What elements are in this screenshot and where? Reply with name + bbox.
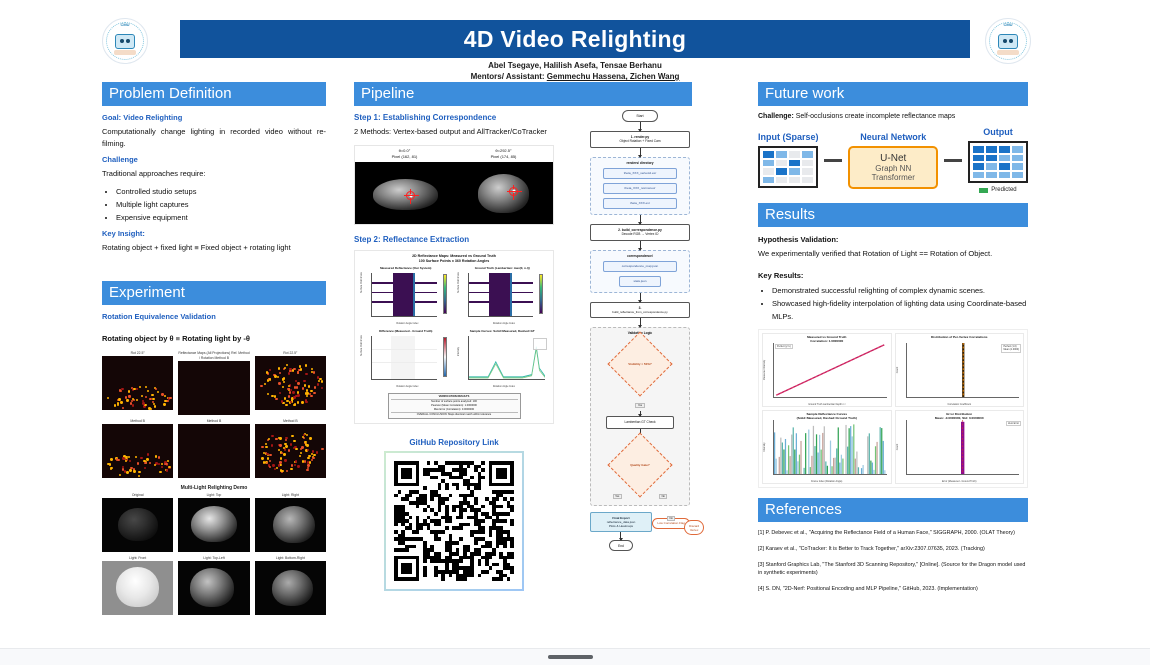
reflectance-thumbnail: [255, 356, 326, 410]
flow-file: theta_XXX_normal.exr: [603, 183, 677, 194]
render-frame-theta0: [355, 162, 454, 224]
corr-caption-left: θ=0.0° Pixel (162, 81): [355, 146, 454, 162]
plot-title-line2: 100 Surface Points x 360 Rotation Angles: [359, 259, 549, 264]
thumb-cell: Method B: [102, 419, 173, 478]
section-header-future-work: Future work: [758, 82, 1028, 106]
edge-label-no: No: [659, 494, 667, 499]
hypothesis-label: Hypothesis Validation:: [758, 234, 1028, 246]
list-item: Multiple light captures: [116, 198, 326, 211]
list-item: Controlled studio setups: [116, 185, 326, 198]
challenge-text: Traditional approaches require:: [102, 168, 326, 180]
author-names: Abel Tsegaye, Halilish Asefa, Tensae Ber…: [180, 60, 970, 71]
goal-label: Goal: Video Relighting: [102, 113, 326, 122]
thumb-cell: Method B: [178, 419, 249, 478]
identity-line-svg: [774, 343, 887, 397]
relight-demo-grid: Original Light: Top Light: Right Light: …: [102, 493, 326, 615]
reflectance-thumb-grid: Rot 22.5° Reflectance Maps (All Projecti…: [102, 351, 326, 478]
key-results-list: Demonstrated successful relighting of co…: [758, 284, 1028, 323]
robot-logo-icon: CMU: [989, 22, 1027, 60]
insight-label: Key Insight:: [102, 229, 326, 238]
flow-node-reflectance: 3. build_reflectance_from_correspondence…: [590, 302, 690, 319]
diagram-network: Neural Network U-Net Graph NN Transforme…: [848, 132, 938, 189]
reflectance-plot-panel: 2D Reflectance Maps: Measured vs Ground …: [354, 250, 554, 424]
demo-cell: Light: Bottom-Right: [255, 556, 326, 615]
thumb-cell: Rot 22.5°: [255, 351, 326, 415]
section-header-experiment: Experiment: [102, 281, 326, 305]
demo-cell: Light: Front: [102, 556, 173, 615]
step2-title: Step 2: Reflectance Extraction: [354, 235, 554, 244]
plot-measured-reflectance: Measured Reflectance (Our System) Rotati…: [359, 266, 453, 326]
correspondence-figure: θ=0.0° Pixel (162, 81) θ=292.5° Pixel (1…: [354, 145, 554, 225]
bars-svg: [774, 420, 887, 474]
legend-swatch-icon: [979, 188, 988, 193]
connector-dash: [824, 159, 842, 162]
thumb-cell: Rot 22.5°: [102, 351, 173, 415]
author-block: Abel Tsegaye, Halilish Asefa, Tensae Ber…: [180, 60, 970, 82]
flow-file: correspondence_map.json: [603, 261, 677, 272]
footer-scrollbar[interactable]: [548, 655, 593, 659]
challenge-bullet-list: Controlled studio setups Multiple light …: [102, 185, 326, 224]
future-challenge-text: Challenge: Self-occlusions create incomp…: [758, 113, 1028, 120]
list-item: Demonstrated successful relighting of co…: [772, 284, 1028, 297]
flow-node-render: 1. render.py Object Rotation + Fixed Cam: [590, 131, 690, 148]
pipeline-flowchart: Start 1. render.py Object Rotation + Fix…: [590, 110, 690, 551]
demo-thumbnail: [255, 498, 326, 552]
reflectance-thumbnail: [102, 424, 173, 478]
list-item: Showcased high-fidelity interpolation of…: [772, 297, 1028, 323]
reference-item: [4] S. DN, "2D-Nerf: Positional Encoding…: [758, 585, 1028, 593]
flow-decision-quality: Quality Gate?: [607, 432, 672, 497]
edge-label-no: No: [667, 516, 675, 521]
section-header-pipeline: Pipeline: [354, 82, 692, 106]
key-results-label: Key Results:: [758, 270, 1028, 282]
flow-start-node: Start: [622, 110, 658, 122]
plot-ground-truth: Ground Truth (Lambertian: max(0, n·l)) R…: [456, 266, 550, 326]
experiment-equation: Rotating object by θ ≡ Rotating light by…: [102, 333, 326, 345]
flow-file: stats.json: [619, 276, 661, 287]
column-left: Problem Definition Goal: Video Relightin…: [102, 82, 326, 615]
error-hist-svg: [907, 420, 1020, 474]
column-middle: Pipeline Step 1: Establishing Correspond…: [354, 82, 692, 591]
logo-left: CMU: [102, 18, 148, 64]
predicted-legend: Predicted: [968, 187, 1028, 193]
flow-decision-visibility: Visibility > 50%?: [607, 332, 672, 397]
reflectance-thumbnail: [178, 424, 249, 478]
thumb-cell: Method B: [255, 419, 326, 478]
reference-item: [2] Karaev et al., "CoTracker: It is Bet…: [758, 545, 1028, 553]
demo-cell: Light: Right: [255, 493, 326, 552]
insight-text: Rotating object + fixed light ≡ Fixed ob…: [102, 242, 326, 254]
diagram-input: Input (Sparse): [758, 132, 819, 188]
plot-error-distribution: Error DistributionMean: -0.0000000, Std:…: [895, 410, 1025, 484]
step1-text: 2 Methods: Vertex-based output and AllTr…: [354, 126, 554, 138]
flow-node-final-export: Final Export reflectance_data.json Plots…: [590, 512, 652, 533]
demo-title: Multi-Light Relighting Demo: [102, 485, 326, 491]
section-header-results: Results: [758, 203, 1028, 227]
flow-end-node: End: [609, 540, 633, 551]
step1-title: Step 1: Establishing Correspondence: [354, 113, 554, 122]
results-plot-panel: Measured vs Ground TruthCorrelation: 1.0…: [758, 329, 1028, 488]
list-item: Expensive equipment: [116, 211, 326, 224]
thumb-cell: Reflectance Maps (All Projections) Ref. …: [178, 351, 249, 415]
reference-item: [3] Stanford Graphics Lab, "The Stanford…: [758, 561, 1028, 577]
demo-cell: Light: Top: [178, 493, 249, 552]
neural-network-box: U-Net Graph NN Transformer: [848, 146, 938, 189]
page-title: 4D Video Relighting: [464, 26, 687, 53]
demo-thumbnail: [178, 498, 249, 552]
section-header-problem: Problem Definition: [102, 82, 326, 106]
plot-sample-curves: Sample Curves: Solid=Measured, Dashed=GT…: [456, 329, 550, 389]
github-qr-code[interactable]: [384, 451, 524, 591]
plot-sample-reflectance-curves: Sample Reflectance Curves(Solid=Measured…: [762, 410, 892, 484]
flow-file: theta_XXX.exr: [603, 198, 677, 209]
reflectance-thumbnail: [178, 361, 249, 415]
demo-cell: Light: Top-Left: [178, 556, 249, 615]
sparse-grid-icon: [758, 146, 818, 188]
flow-group-renders: renders/ directory theta_XXX_vertexid.ex…: [590, 157, 690, 215]
demo-thumbnail: [102, 498, 173, 552]
logo-right: CMU: [985, 18, 1031, 64]
reflectance-thumbnail: [102, 356, 173, 410]
verification-results-box: VERIFICATION RESULTS Number of surface p…: [388, 393, 521, 419]
corr-caption-right: θ=292.5° Pixel (174, 85): [454, 146, 553, 162]
qr-matrix: [394, 461, 514, 581]
edge-label-yes: Yes: [635, 403, 644, 408]
plot-measured-vs-gt: Measured vs Ground TruthCorrelation: 1.0…: [762, 333, 892, 407]
mentor-line: Mentors/ Assistant: Gemmechu Hassena, Zi…: [180, 71, 970, 82]
dense-grid-icon: [968, 141, 1028, 183]
flow-node-lambertian-check: Lambertian GT Check: [606, 416, 674, 428]
robot-logo-icon: CMU: [106, 22, 144, 60]
plot-correlation-distribution: Distribution of Per-Vertex Correlations …: [895, 333, 1025, 407]
flow-file: theta_XXX_vertexid.exr: [603, 168, 677, 179]
poster-canvas: CMU CMU 4D Video Relighting Abel Tsegaye…: [0, 0, 1150, 648]
experiment-subtitle: Rotation Equivalence Validation: [102, 312, 326, 321]
edge-label-yes: Yes: [613, 494, 622, 499]
column-right: Future work Challenge: Self-occlusions c…: [758, 82, 1028, 601]
flow-group-correspondence: correspondence/ correspondence_map.json …: [590, 250, 690, 293]
demo-cell: Original: [102, 493, 173, 552]
hypothesis-text: We experimentally verified that Rotation…: [758, 248, 1028, 260]
demo-thumbnail: [255, 561, 326, 615]
flow-node-correspondence: 2. build_correspondence.py Decode RGB → …: [590, 224, 690, 241]
connector-dash: [944, 159, 962, 162]
flow-group-validation: Validation Logic Visibility > 50%? Yes L…: [590, 327, 690, 505]
github-link-title: GitHub Repository Link: [354, 438, 554, 447]
future-work-diagram: Input (Sparse) Neural Network U-Net Grap…: [758, 127, 1028, 193]
demo-thumbnail: [178, 561, 249, 615]
render-frame-theta292: [454, 162, 553, 224]
challenge-label: Challenge: [102, 155, 326, 164]
reflectance-thumbnail: [255, 424, 326, 478]
poster-title-bar: 4D Video Relighting: [180, 20, 970, 58]
diagram-output: Output Predicted: [968, 127, 1028, 193]
reference-item: [1] P. Debevec et al., "Acquiring the Re…: [758, 529, 1028, 537]
goal-text: Computationally change lighting in recor…: [102, 126, 326, 150]
plot-difference: Difference (Measured - Ground Truth) Rot…: [359, 329, 453, 389]
flow-node-discard-vertex: Discard Vertex: [684, 520, 704, 535]
demo-thumbnail: [102, 561, 173, 615]
section-header-references: References: [758, 498, 1028, 522]
